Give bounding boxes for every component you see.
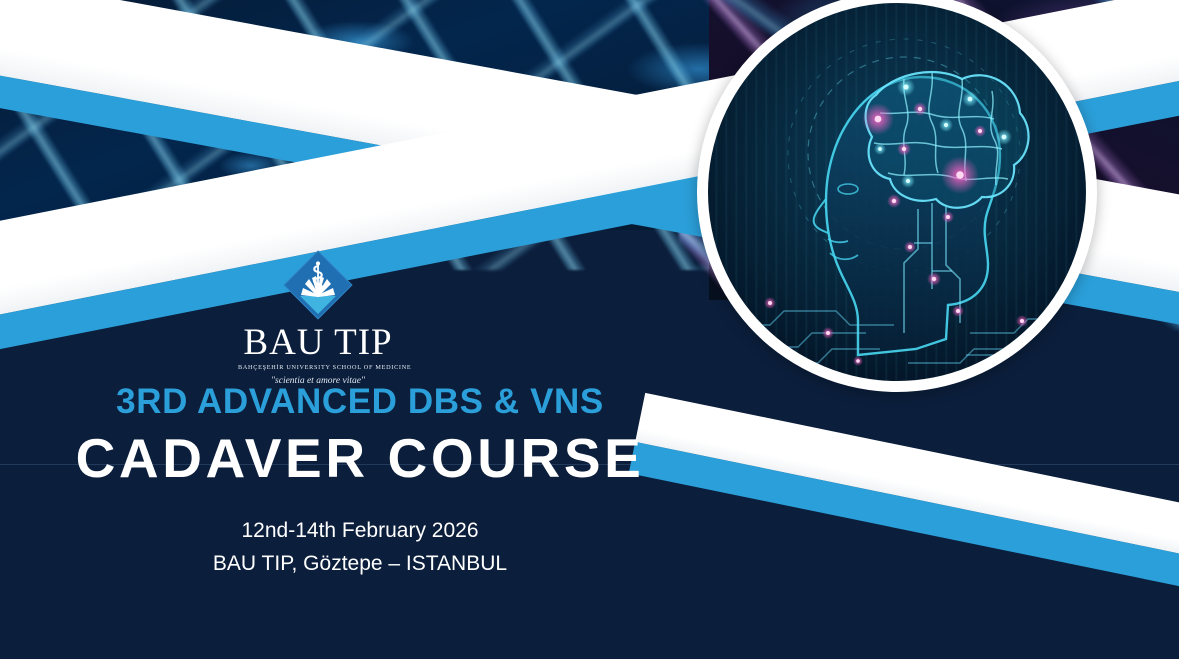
logo-subtitle: BAHÇEŞEHİR UNIVERSITY SCHOOL OF MEDICINE	[238, 364, 398, 371]
medallion-image-area	[708, 3, 1086, 381]
event-dates: 12nd-14th February 2026	[40, 515, 680, 548]
bau-tip-diamond-caduceus-emblem	[281, 248, 355, 322]
headline-block: 3RD ADVANCED DBS & VNS CADAVER COURSE 12…	[40, 383, 680, 580]
bau-tip-logo: BAU TIP BAHÇEŞEHİR UNIVERSITY SCHOOL OF …	[238, 248, 398, 386]
course-title: CADAVER COURSE	[40, 428, 680, 490]
event-venue: BAU TIP, Göztepe – ISTANBUL	[40, 548, 680, 581]
course-kicker: 3RD ADVANCED DBS & VNS	[40, 383, 680, 421]
logo-wordmark: BAU TIP	[238, 324, 398, 362]
event-poster: BAU TIP BAHÇEŞEHİR UNIVERSITY SCHOOL OF …	[0, 0, 1179, 659]
brain-head-illustration	[708, 3, 1086, 381]
event-meta: 12nd-14th February 2026 BAU TIP, Göztepe…	[40, 515, 680, 580]
brain-circuit-head-photo	[697, 0, 1097, 392]
